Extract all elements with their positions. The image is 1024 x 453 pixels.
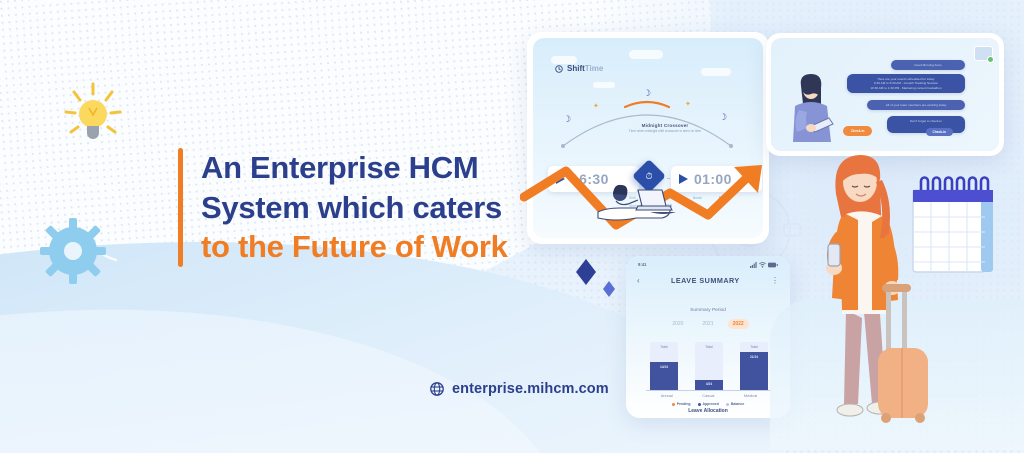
shift-arc	[557, 90, 737, 150]
legend-label: Pending	[677, 402, 691, 406]
leave-navbar: ‹ LEAVE SUMMARY ⋮	[626, 273, 790, 287]
battery-icon	[768, 262, 778, 268]
brand-label: ShiftTime	[567, 64, 603, 73]
year-option-2022[interactable]: 2022	[728, 319, 749, 329]
leave-bar-chart: Total 14/24 Total 4/24	[650, 342, 768, 390]
lightbulb-icon	[62, 82, 124, 152]
leave-allocation-label: Leave Allocation	[626, 408, 790, 414]
shifttime-logo: ShiftTime	[555, 64, 603, 73]
globe-icon	[430, 382, 444, 396]
headline-block: An Enterprise HCM System which caters to…	[178, 148, 508, 267]
midnight-crossover-label: Midnight Crossover Time when midnight sh…	[619, 123, 711, 133]
chat-card: Good Morning Anne Here are your events s…	[766, 33, 1004, 156]
cloud-shape	[551, 56, 577, 64]
bar-column-medical: Total 21/24	[740, 342, 768, 390]
year-selector[interactable]: 2020 2021 2022	[626, 319, 790, 329]
category-annual: Annual	[661, 393, 673, 398]
legend-pending: Pending	[672, 402, 691, 406]
chevron-left-icon[interactable]: ‹	[637, 276, 640, 285]
woman-with-tablet	[783, 70, 843, 148]
bar-approved-label: 14/24	[660, 365, 668, 369]
year-option-2020[interactable]: 2020	[667, 319, 688, 329]
category-casual: Casual	[702, 393, 714, 398]
legend-label: Approved	[703, 402, 719, 406]
chat-bubble-sent: Good Morning Anne	[891, 60, 965, 70]
sparkle-icon	[20, 80, 60, 120]
cloud-shape	[701, 68, 731, 76]
summary-period-label: Summary Period	[626, 308, 790, 313]
legend-label: Balance	[731, 402, 744, 406]
page-title: An Enterprise HCM System which caters to…	[201, 148, 508, 267]
headline-accent-bar	[178, 148, 183, 267]
leave-summary-card: 9:41	[626, 256, 790, 418]
chart-categories: Annual Casual Medical	[646, 393, 772, 398]
chart-legend: Pending Approved Balance	[626, 402, 790, 406]
chat-bubble-received: Here are your events scheduled for today…	[847, 74, 965, 93]
gear-icon	[40, 218, 106, 284]
midnight-subtitle: Time when midnight shift crossover is se…	[619, 129, 711, 133]
woman-with-suitcase	[802, 142, 932, 442]
legend-balance: Balance	[726, 402, 744, 406]
legend-approved: Approved	[698, 402, 719, 406]
bar-total-label: Total	[660, 345, 667, 349]
online-status-dot	[987, 56, 994, 63]
bar-column-casual: Total 4/24	[695, 342, 723, 390]
person-with-laptop	[590, 176, 680, 226]
bar-approved: 21/24	[740, 352, 768, 390]
legend-dot	[672, 403, 675, 406]
leave-title: LEAVE SUMMARY	[671, 276, 740, 285]
bar-column-annual: Total 14/24	[650, 342, 678, 390]
legend-dot	[726, 403, 729, 406]
cloud-shape	[593, 82, 615, 88]
wifi-icon	[759, 262, 766, 268]
midnight-title: Midnight Crossover	[619, 123, 711, 128]
bar-balance: Total 14/24	[650, 342, 678, 390]
category-medical: Medical	[744, 393, 757, 398]
status-time: 9:41	[638, 262, 646, 267]
phone-status-bar: 9:41	[626, 260, 790, 269]
bar-balance: Total 21/24	[740, 342, 768, 390]
headline-line-1: An Enterprise HCM	[201, 148, 508, 188]
bar-total-label: Total	[750, 345, 757, 349]
bar-approved: 4/24	[695, 380, 723, 390]
bar-total-label: Total	[705, 345, 712, 349]
chart-axis	[646, 390, 772, 391]
kebab-menu-icon[interactable]: ⋮	[771, 276, 779, 285]
bar-approved: 14/24	[650, 362, 678, 390]
headline-line-2: System which caters	[201, 188, 508, 228]
legend-dot	[698, 403, 701, 406]
clock-icon	[555, 65, 563, 73]
checkin-button[interactable]: Check-in	[843, 126, 872, 136]
sparkle-diamonds	[570, 255, 630, 305]
bar-approved-label: 4/24	[706, 382, 712, 386]
chat-inline-checkin-button[interactable]: Check-in	[926, 128, 953, 136]
bar-balance: Total 4/24	[695, 342, 723, 390]
signal-icon	[750, 262, 757, 268]
chat-bubble-received: All of your team members are working tod…	[867, 100, 965, 110]
website-url[interactable]: enterprise.mihcm.com	[430, 381, 609, 397]
cloud-shape	[629, 50, 663, 59]
hero-banner: An Enterprise HCM System which caters to…	[0, 0, 1024, 453]
year-option-2021[interactable]: 2021	[697, 319, 718, 329]
url-text: enterprise.mihcm.com	[452, 381, 609, 397]
bar-approved-label: 21/24	[750, 355, 758, 359]
headline-line-3: to the Future of Work	[201, 227, 508, 267]
